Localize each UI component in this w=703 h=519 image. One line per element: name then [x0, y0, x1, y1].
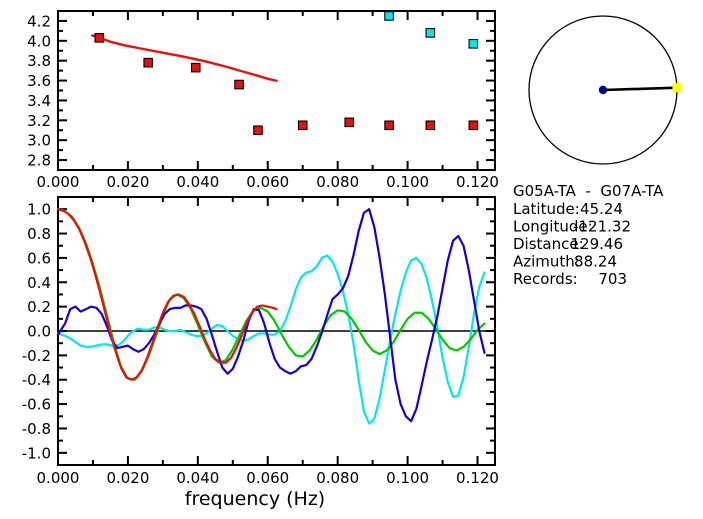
spectrum-curve	[58, 209, 485, 380]
info-row-value: 703	[598, 270, 627, 288]
info-row-label: Latitude:	[513, 200, 580, 218]
bottom-plot-xtick-label: 0.080	[316, 469, 359, 487]
bottom-plot-ytick-label: -0.4	[22, 371, 51, 389]
bottom-plot-xtick-label: 0.100	[386, 469, 429, 487]
info-row-label: Azimuth:	[513, 253, 580, 271]
azimuth-endpoint-dot	[672, 83, 681, 92]
info-row-label: Records:	[513, 270, 578, 288]
station-pair-label: G05A-TA - G07A-TA	[513, 183, 664, 200]
info-row-value: -121.32	[573, 218, 631, 236]
cross-correlation-spectrum-plot: -1.0-0.8-0.6-0.4-0.20.00.20.40.60.81.0 0…	[0, 0, 510, 519]
bottom-plot-ytick-label: -0.2	[22, 347, 51, 365]
info-row-value: 45.24	[580, 200, 623, 218]
bottom-plot-xtick-label: 0.120	[456, 469, 499, 487]
bottom-plot-ytick-label: 0.6	[27, 249, 51, 267]
azimuth-ray	[603, 88, 677, 90]
bottom-plot-ytick-label: -0.6	[22, 396, 51, 414]
bottom-plot-ytick-label: -1.0	[22, 444, 51, 462]
bottom-plot-ytick-label: 0.0	[27, 323, 51, 341]
azimuth-center-dot	[599, 86, 607, 94]
bottom-plot-curves	[58, 209, 485, 423]
bottom-plot-ytick-label: 0.8	[27, 225, 51, 243]
bottom-plot-ytick-label: 0.2	[27, 298, 51, 316]
bottom-plot-ytick-label: -0.8	[22, 420, 51, 438]
bottom-plot-xtick-label: 0.040	[176, 469, 219, 487]
figure-root: 2.83.03.23.43.63.84.04.2 0.0000.0200.040…	[0, 0, 703, 519]
spectrum-curve	[58, 209, 277, 380]
x-axis-label: frequency (Hz)	[185, 488, 325, 510]
bottom-plot-ytick-label: 1.0	[27, 201, 51, 219]
bottom-plot-x-ticklabels: 0.0000.0200.0400.0600.0800.1000.120	[37, 469, 499, 487]
bottom-plot-ytick-label: 0.4	[27, 274, 51, 292]
bottom-plot-xtick-label: 0.000	[37, 469, 80, 487]
bottom-plot-y-ticklabels: -1.0-0.8-0.6-0.4-0.20.00.20.40.60.81.0	[22, 201, 51, 463]
station-info-rows: Latitude:45.24Longitude:-121.32Distance:…	[513, 200, 631, 288]
station-info-panel: G05A-TA - G07A-TA Latitude:45.24Longitud…	[505, 183, 703, 313]
info-row-value: 88.24	[574, 253, 617, 271]
bottom-plot-xtick-label: 0.020	[106, 469, 149, 487]
azimuth-diagram	[505, 0, 703, 185]
info-row-value: 129.46	[571, 235, 624, 253]
spectrum-curve	[58, 255, 485, 423]
bottom-plot-xtick-label: 0.060	[246, 469, 289, 487]
